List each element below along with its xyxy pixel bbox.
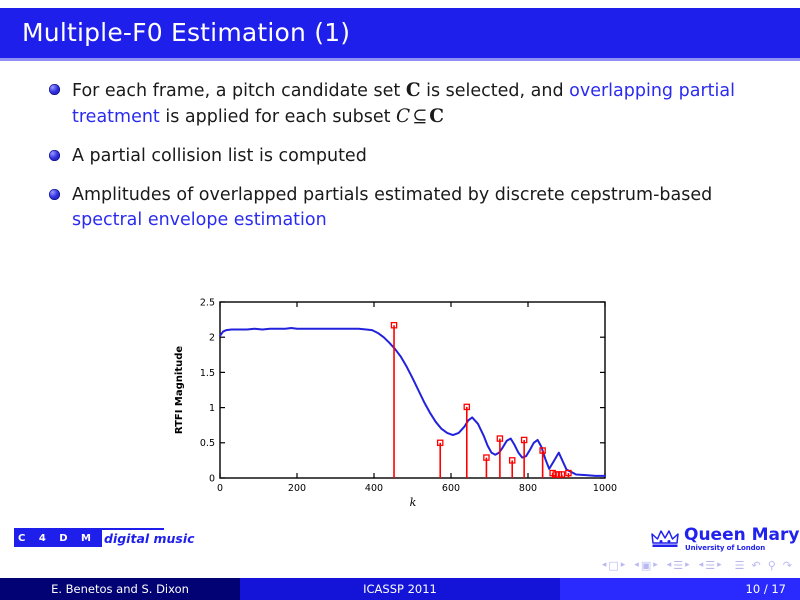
- list-item: A partial collision list is computed: [0, 144, 800, 169]
- nav-group-subsection[interactable]: ◂ ☰ ▸: [667, 560, 690, 571]
- plot-svg: 02004006008001000 00.511.522.5 k RTFI Ma…: [168, 286, 628, 511]
- subsection-icon[interactable]: ☰: [673, 560, 683, 571]
- bullet-1-set-C-bold-2: C: [429, 106, 444, 127]
- title-underline: [0, 58, 800, 61]
- queen-mary-subtitle: University of London: [685, 544, 765, 552]
- back-icon[interactable]: ↶: [752, 560, 761, 571]
- section-icon[interactable]: ☰: [705, 560, 715, 571]
- prev-slide-icon[interactable]: ◂: [602, 561, 607, 570]
- slide-footer: E. Benetos and S. Dixon ICASSP 2011 10 /…: [0, 578, 800, 600]
- queen-mary-name: Queen Mary: [684, 526, 800, 545]
- y-tick-label: 0.5: [200, 438, 215, 449]
- slide-icon[interactable]: □: [608, 560, 618, 571]
- y-axis-label: RTFI Magnitude: [174, 346, 185, 435]
- y-tick-label: 1: [209, 403, 215, 414]
- frame-icon[interactable]: ▣: [641, 560, 651, 571]
- x-tick-label: 400: [365, 483, 383, 494]
- digital-music-logo: C 4 D M digital music: [14, 528, 174, 550]
- bullet-1-subset-C-italic: C: [396, 106, 410, 127]
- x-tick-label: 600: [442, 483, 460, 494]
- bullet-1-subseteq-symbol: ⊆: [410, 106, 429, 127]
- list-item: For each frame, a pitch candidate set C …: [0, 78, 800, 130]
- c4dm-block-text: C 4 D M: [18, 532, 96, 545]
- x-tick-labels: 02004006008001000: [217, 483, 617, 494]
- bullet-1-seg-c: is applied for each subset: [160, 107, 396, 127]
- forward-icon[interactable]: ↷: [783, 560, 792, 571]
- bullet-dot-icon: [49, 150, 60, 161]
- x-tick-label: 200: [288, 483, 306, 494]
- x-tick-label: 1000: [593, 483, 617, 494]
- x-tick-label: 0: [217, 483, 223, 494]
- next-section-icon[interactable]: ▸: [717, 561, 722, 570]
- nav-group-slide[interactable]: ◂ □ ▸: [602, 560, 625, 571]
- queen-mary-logo: Queen Mary University of London: [648, 524, 788, 558]
- footer-page-number: 10 / 17: [560, 578, 800, 600]
- y-tick-label: 0: [209, 473, 215, 484]
- nav-group-section[interactable]: ◂ ☰ ▸: [699, 560, 722, 571]
- y-tick-label: 1.5: [200, 368, 215, 379]
- y-tick-label: 2: [209, 333, 215, 344]
- crown-icon: [650, 528, 680, 550]
- next-slide-icon[interactable]: ▸: [621, 561, 626, 570]
- beamer-navigation-symbols[interactable]: ◂ □ ▸ ◂ ▣ ▸ ◂ ☰ ▸ ◂ ☰ ▸ ☰ ↶ ⚲ ↷: [602, 557, 792, 573]
- bullet-1-text: For each frame, a pitch candidate set C …: [72, 81, 735, 127]
- c4dm-block: C 4 D M: [14, 530, 102, 547]
- next-frame-icon[interactable]: ▸: [653, 561, 658, 570]
- nav-group-frame[interactable]: ◂ ▣ ▸: [634, 560, 657, 571]
- search-icon[interactable]: ⚲: [768, 560, 776, 571]
- y-tick-labels: 00.511.522.5: [200, 297, 215, 484]
- y-tick-label: 2.5: [200, 297, 215, 308]
- document-icon[interactable]: ☰: [735, 560, 745, 571]
- bullet-1-seg-a: For each frame, a pitch candidate set: [72, 81, 406, 101]
- bullet-dot-icon: [49, 84, 60, 95]
- slide-content: For each frame, a pitch candidate set C …: [0, 78, 800, 247]
- bullet-3-seg-a: Amplitudes of overlapped partials estima…: [72, 185, 712, 205]
- slide-title-bar: Multiple-F0 Estimation (1): [0, 8, 800, 58]
- footer-conference: ICASSP 2011: [240, 578, 560, 600]
- logo-row: C 4 D M digital music Queen Mary Univers…: [0, 524, 800, 558]
- x-axis-label: k: [410, 496, 417, 509]
- list-item: Amplitudes of overlapped partials estima…: [0, 183, 800, 233]
- bullet-1-set-C-bold: C: [406, 80, 421, 101]
- next-subsection-icon[interactable]: ▸: [685, 561, 690, 570]
- prev-subsection-icon[interactable]: ◂: [667, 561, 672, 570]
- digital-music-wordmark: digital music: [104, 530, 195, 547]
- bullet-3-highlight: spectral envelope estimation: [72, 210, 327, 230]
- x-tick-label: 800: [519, 483, 537, 494]
- bullet-dot-icon: [49, 189, 60, 200]
- prev-frame-icon[interactable]: ◂: [634, 561, 639, 570]
- bullet-3-text: Amplitudes of overlapped partials estima…: [72, 185, 712, 230]
- rtfi-magnitude-plot: 02004006008001000 00.511.522.5 k RTFI Ma…: [168, 286, 628, 511]
- footer-author: E. Benetos and S. Dixon: [0, 578, 240, 600]
- bullet-2-text: A partial collision list is computed: [72, 146, 367, 166]
- prev-section-icon[interactable]: ◂: [699, 561, 704, 570]
- page-title: Multiple-F0 Estimation (1): [22, 18, 350, 47]
- bullet-1-seg-b: is selected, and: [421, 81, 570, 101]
